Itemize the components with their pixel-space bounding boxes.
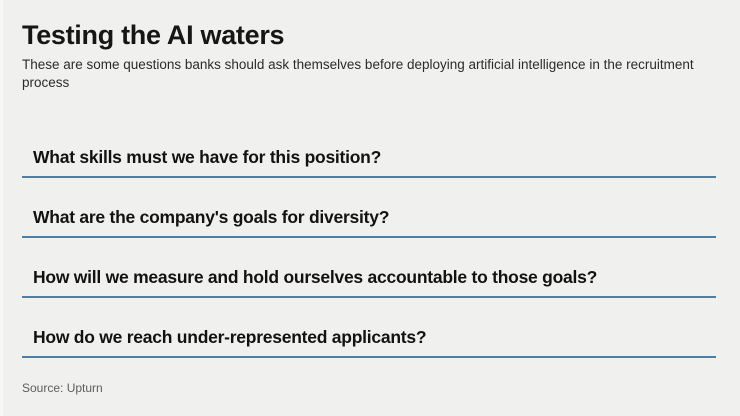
question-text: What are the company's goals for diversi… [33,206,389,228]
question-list: What skills must we have for this positi… [22,118,716,358]
source-attribution: Source: Upturn [22,380,103,396]
question-text: What skills must we have for this positi… [33,146,381,168]
question-text: How will we measure and hold ourselves a… [33,266,597,288]
question-item-2: What are the company's goals for diversi… [22,178,716,238]
page-title: Testing the AI waters [22,18,718,52]
infographic-canvas: Testing the AI waters These are some que… [0,0,740,416]
question-text: How do we reach under-represented applic… [33,326,426,348]
question-item-4: How do we reach under-represented applic… [22,298,716,358]
question-item-3: How will we measure and hold ourselves a… [22,238,716,298]
header: Testing the AI waters These are some que… [22,18,718,92]
question-item-1: What skills must we have for this positi… [22,118,716,178]
question-underline [22,356,716,358]
page-subtitle: These are some questions banks should as… [22,56,714,92]
left-edge-strip [0,0,3,416]
